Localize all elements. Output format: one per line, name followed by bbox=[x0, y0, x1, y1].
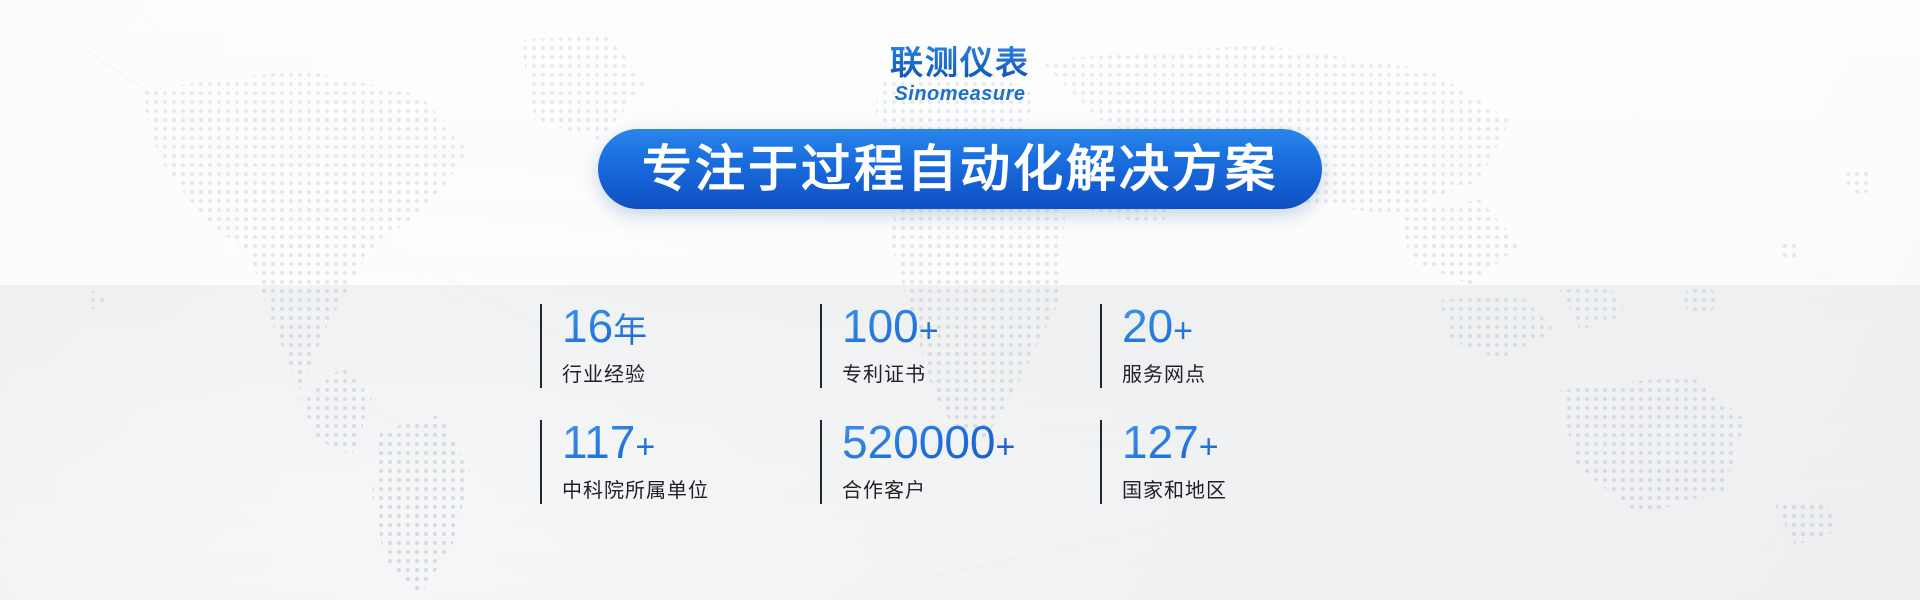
headline-text: 专注于过程自动化解决方案 bbox=[642, 144, 1278, 194]
headline-pill: 专注于过程自动化解决方案 bbox=[598, 129, 1322, 209]
stat-value-suffix: + bbox=[919, 312, 939, 350]
stat-value-suffix: 年 bbox=[613, 312, 647, 350]
stat-value: 100+ bbox=[842, 300, 1100, 357]
stat-value-suffix: + bbox=[1173, 312, 1193, 350]
stat-value-suffix: + bbox=[635, 428, 655, 466]
stat-value-suffix: + bbox=[996, 428, 1016, 466]
stat-item: 127+国家和地区 bbox=[1100, 416, 1380, 532]
stat-item: 520000+合作客户 bbox=[820, 416, 1100, 532]
stat-label: 国家和地区 bbox=[1122, 477, 1380, 503]
stat-label: 合作客户 bbox=[842, 477, 1100, 503]
hero-banner: 联测仪表 Sinomeasure 专注于过程自动化解决方案 16年行业经验100… bbox=[0, 0, 1920, 600]
stat-label: 专利证书 bbox=[842, 361, 1100, 387]
stat-value: 16年 bbox=[562, 300, 820, 357]
brand-name-en: Sinomeasure bbox=[0, 84, 1920, 104]
stat-label: 服务网点 bbox=[1122, 361, 1380, 387]
stat-value: 127+ bbox=[1122, 416, 1380, 473]
brand-name-cn: 联测仪表 bbox=[0, 46, 1920, 79]
banner-content: 联测仪表 Sinomeasure 专注于过程自动化解决方案 16年行业经验100… bbox=[0, 0, 1920, 600]
stat-value: 20+ bbox=[1122, 300, 1380, 357]
stat-item: 100+专利证书 bbox=[820, 300, 1100, 416]
stat-item: 20+服务网点 bbox=[1100, 300, 1380, 416]
stat-label: 行业经验 bbox=[562, 361, 820, 387]
stat-value: 520000+ bbox=[842, 416, 1100, 473]
headline-container: 专注于过程自动化解决方案 bbox=[0, 129, 1920, 209]
stat-item: 16年行业经验 bbox=[540, 300, 820, 416]
brand-logo: 联测仪表 Sinomeasure bbox=[0, 46, 1920, 104]
stat-item: 117+中科院所属单位 bbox=[540, 416, 820, 532]
stats-grid: 16年行业经验100+专利证书20+服务网点117+中科院所属单位520000+… bbox=[540, 300, 1380, 532]
stat-value-suffix: + bbox=[1199, 428, 1219, 466]
stat-label: 中科院所属单位 bbox=[562, 477, 820, 503]
stat-value: 117+ bbox=[562, 416, 820, 473]
